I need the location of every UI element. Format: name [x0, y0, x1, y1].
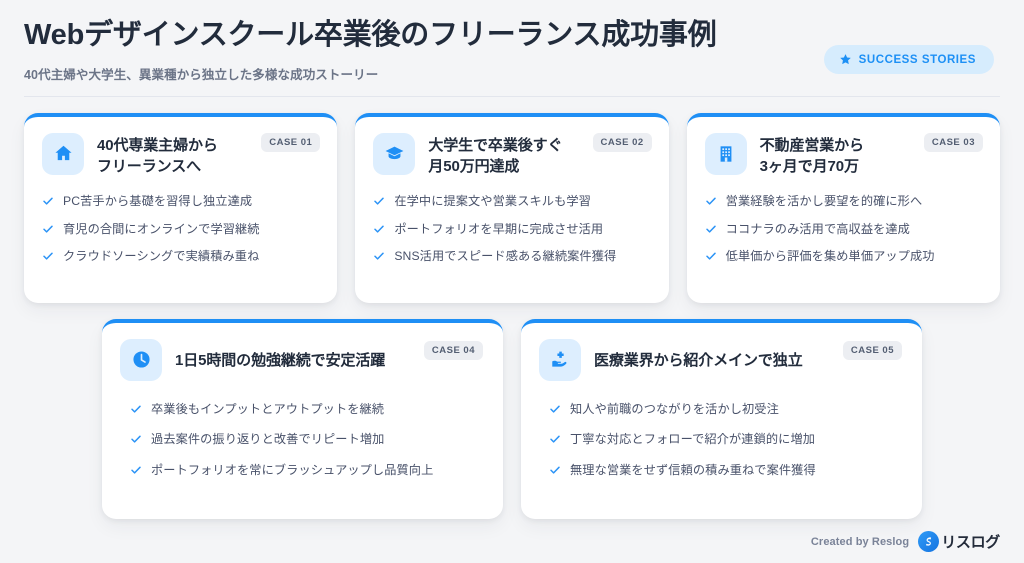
case-card-title-line-1: 大学生で卒業後すぐ	[428, 135, 562, 156]
header-text-block: Webデザインスクール卒業後のフリーランス成功事例 40代主婦や大学生、異業種か…	[24, 18, 824, 83]
graduation-cap-icon	[373, 133, 415, 175]
page-root: Webデザインスクール卒業後のフリーランス成功事例 40代主婦や大学生、異業種か…	[0, 0, 1024, 563]
bullet-item: ココナラのみ活用で高収益を達成	[705, 221, 982, 237]
bullet-item: PC苦手から基礎を習得し独立達成	[42, 193, 319, 209]
reslog-logo-text: リスログ	[941, 531, 1000, 552]
case-card-bullet-list: 知人や前職のつながりを活かし初受注 丁寧な対応とフォローで紹介が連鎖的に増加 無…	[539, 401, 904, 478]
bullet-item: 在学中に提案文や営業スキルも学習	[373, 193, 650, 209]
bullet-text: 在学中に提案文や営業スキルも学習	[394, 193, 591, 209]
check-icon	[705, 223, 717, 235]
page-header: Webデザインスクール卒業後のフリーランス成功事例 40代主婦や大学生、異業種か…	[0, 0, 1024, 83]
star-icon	[839, 53, 852, 66]
success-stories-badge-label: SUCCESS STORIES	[859, 54, 976, 66]
case-badge: CASE 04	[424, 341, 483, 360]
clock-icon	[120, 339, 162, 381]
check-icon	[549, 403, 561, 415]
case-card-bullet-list: 営業経験を活かし要望を的確に形へ ココナラのみ活用で高収益を達成 低単価から評価…	[705, 193, 982, 264]
bullet-item: 低単価から評価を集め単価アップ成功	[705, 248, 982, 264]
case-card-title-line-2: 月50万円達成	[428, 156, 562, 177]
case-card-01[interactable]: CASE 01 40代専業主婦から フリーランスへ	[24, 113, 337, 303]
case-card-title-line-2: 3ヶ月で月70万	[760, 156, 864, 177]
case-badge: CASE 03	[924, 133, 983, 152]
bullet-text: クラウドソーシングで実績積み重ね	[63, 248, 259, 264]
case-card-04[interactable]: CASE 04 1日5時間の勉強継続で安定活躍	[102, 319, 503, 519]
check-icon	[130, 433, 142, 445]
bullet-item: ポートフォリオを常にブラッシュアップし品質向上	[120, 462, 485, 478]
case-card-bullet-list: 在学中に提案文や営業スキルも学習 ポートフォリオを早期に完成させ活用 SNS活用…	[373, 193, 650, 264]
case-card-title: 医療業界から紹介メインで独立	[594, 339, 803, 371]
check-icon	[373, 250, 385, 262]
case-card-title-line-1: 不動産営業から	[760, 135, 864, 156]
bullet-item: SNS活用でスピード感ある継続案件獲得	[373, 248, 650, 264]
case-card-05[interactable]: CASE 05 医療業界から紹介メインで独立	[521, 319, 922, 519]
check-icon	[705, 195, 717, 207]
case-card-title: 不動産営業から 3ヶ月で月70万	[760, 133, 864, 178]
case-card-title-line-1: 医療業界から紹介メインで独立	[594, 350, 803, 371]
bullet-text: 低単価から評価を集め単価アップ成功	[726, 248, 935, 264]
check-icon	[42, 250, 54, 262]
case-card-bullet-list: 卒業後もインプットとアウトプットを継続 過去案件の振り返りと改善でリピート増加 …	[120, 401, 485, 478]
bullet-item: 育児の合間にオンラインで学習継続	[42, 221, 319, 237]
check-icon	[549, 433, 561, 445]
bullet-item: 営業経験を活かし要望を的確に形へ	[705, 193, 982, 209]
case-badge: CASE 01	[261, 133, 320, 152]
check-icon	[42, 223, 54, 235]
case-card-title: 1日5時間の勉強継続で安定活躍	[175, 339, 385, 371]
check-icon	[373, 223, 385, 235]
check-icon	[130, 403, 142, 415]
bullet-item: クラウドソーシングで実績積み重ね	[42, 248, 319, 264]
bullet-text: PC苦手から基礎を習得し独立達成	[63, 193, 252, 209]
case-card-row-2: CASE 04 1日5時間の勉強継続で安定活躍	[24, 319, 1000, 519]
case-badge: CASE 02	[593, 133, 652, 152]
case-card-03[interactable]: CASE 03	[687, 113, 1000, 303]
page-footer: Created by Reslog リスログ	[811, 531, 1000, 552]
check-icon	[130, 464, 142, 476]
check-icon	[42, 195, 54, 207]
bullet-text: 丁寧な対応とフォローで紹介が連鎖的に増加	[570, 431, 815, 447]
bullet-text: SNS活用でスピード感ある継続案件獲得	[394, 248, 616, 264]
case-badge: CASE 05	[843, 341, 902, 360]
bullet-text: ココナラのみ活用で高収益を達成	[726, 221, 910, 237]
bullet-text: 過去案件の振り返りと改善でリピート増加	[151, 431, 384, 447]
case-card-bullet-list: PC苦手から基礎を習得し独立達成 育児の合間にオンラインで学習継続 クラウドソー…	[42, 193, 319, 264]
case-card-title: 大学生で卒業後すぐ 月50万円達成	[428, 133, 562, 178]
bullet-item: 過去案件の振り返りと改善でリピート増加	[120, 431, 485, 447]
building-icon	[705, 133, 747, 175]
case-card-row-1: CASE 01 40代専業主婦から フリーランスへ	[24, 113, 1000, 303]
home-icon	[42, 133, 84, 175]
bullet-text: 知人や前職のつながりを活かし初受注	[570, 401, 779, 417]
bullet-text: 無理な営業をせず信頼の積み重ねで案件獲得	[570, 462, 816, 478]
case-card-title-line-1: 1日5時間の勉強継続で安定活躍	[175, 350, 385, 371]
bullet-text: 営業経験を活かし要望を的確に形へ	[726, 193, 923, 209]
bullet-text: ポートフォリオを早期に完成させ活用	[394, 221, 603, 237]
case-card-grid: CASE 01 40代専業主婦から フリーランスへ	[0, 97, 1024, 519]
reslog-logo-icon	[918, 531, 939, 552]
check-icon	[549, 464, 561, 476]
bullet-item: ポートフォリオを早期に完成させ活用	[373, 221, 650, 237]
bullet-item: 知人や前職のつながりを活かし初受注	[539, 401, 904, 417]
case-card-title-line-1: 40代専業主婦から	[97, 135, 218, 156]
page-subtitle: 40代主婦や大学生、異業種から独立した多様な成功ストーリー	[24, 64, 824, 83]
bullet-item: 卒業後もインプットとアウトプットを継続	[120, 401, 485, 417]
bullet-text: ポートフォリオを常にブラッシュアップし品質向上	[151, 462, 433, 478]
check-icon	[373, 195, 385, 207]
reslog-logo[interactable]: リスログ	[918, 531, 1000, 552]
footer-credit-text: Created by Reslog	[811, 536, 909, 548]
case-card-02[interactable]: CASE 02 大学生で卒業後すぐ 月50万円達成	[355, 113, 668, 303]
case-card-title: 40代専業主婦から フリーランスへ	[97, 133, 218, 178]
case-card-title-line-2: フリーランスへ	[97, 156, 218, 177]
bullet-text: 卒業後もインプットとアウトプットを継続	[151, 401, 384, 417]
page-title: Webデザインスクール卒業後のフリーランス成功事例	[24, 18, 824, 53]
bullet-text: 育児の合間にオンラインで学習継続	[63, 221, 260, 237]
hand-holding-medical-icon	[539, 339, 581, 381]
bullet-item: 丁寧な対応とフォローで紹介が連鎖的に増加	[539, 431, 904, 447]
check-icon	[705, 250, 717, 262]
success-stories-badge[interactable]: SUCCESS STORIES	[824, 45, 994, 74]
bullet-item: 無理な営業をせず信頼の積み重ねで案件獲得	[539, 462, 904, 478]
